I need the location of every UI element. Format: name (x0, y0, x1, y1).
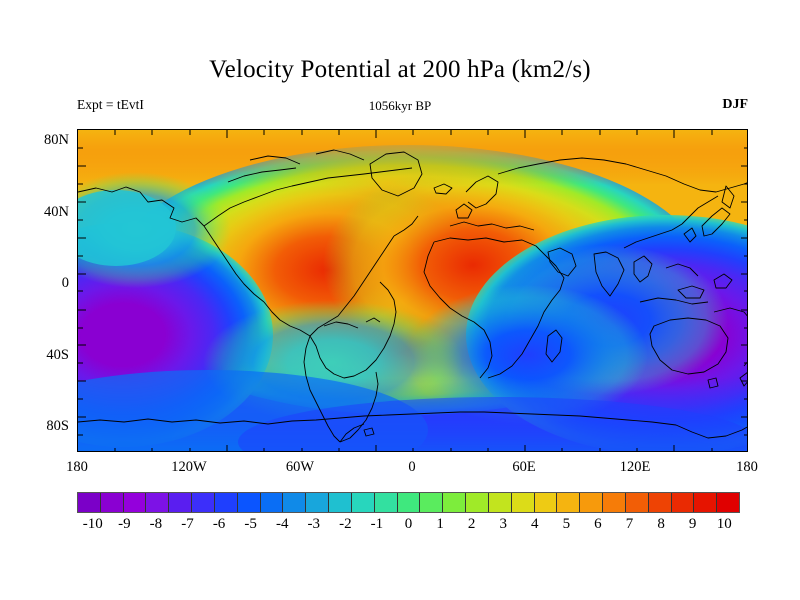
colorbar-cell-6 (215, 493, 238, 512)
colorbar-cell-8 (261, 493, 284, 512)
colorbar-cell-21 (557, 493, 580, 512)
colorbar-cell-16 (443, 493, 466, 512)
x-tick-label-60w: 60W (265, 459, 335, 476)
colorbar-cell-7 (238, 493, 261, 512)
figure-root: Velocity Potential at 200 hPa (km2/s) 10… (0, 0, 800, 600)
colorbar-cell-1 (101, 493, 124, 512)
colorbar-cell-23 (603, 493, 626, 512)
velocity-potential-field (78, 130, 748, 452)
colorbar-cell-4 (169, 493, 192, 512)
colorbar-cell-25 (649, 493, 672, 512)
colorbar-cell-22 (580, 493, 603, 512)
x-tick-label-60e: 60E (489, 459, 559, 476)
page-title: Velocity Potential at 200 hPa (km2/s) (0, 56, 800, 84)
colorbar-cell-13 (375, 493, 398, 512)
colorbar-cell-2 (124, 493, 147, 512)
x-tick-label-0: 0 (377, 459, 447, 476)
colorbar-cell-18 (489, 493, 512, 512)
colorbar-cell-9 (283, 493, 306, 512)
x-tick-label-180e: 180 (712, 459, 782, 476)
colorbar-cell-26 (672, 493, 695, 512)
colorbar-cell-0 (78, 493, 101, 512)
colorbar-cell-11 (329, 493, 352, 512)
map-plot-area (77, 129, 748, 452)
x-tick-label-180w: 180 (42, 459, 112, 476)
colorbar-label-10: 10 (704, 516, 744, 533)
y-tick-label-40s: 40S (25, 347, 69, 364)
y-tick-label-0: 0 (25, 275, 69, 292)
colorbar-cell-24 (626, 493, 649, 512)
colorbar-cell-17 (466, 493, 489, 512)
colorbar-cell-12 (352, 493, 375, 512)
colorbar-cell-5 (192, 493, 215, 512)
experiment-label: Expt = tEvtI (77, 97, 144, 113)
colorbar-cell-20 (535, 493, 558, 512)
season-label: DJF (722, 97, 748, 113)
colorbar-cell-10 (306, 493, 329, 512)
x-tick-label-120w: 120W (154, 459, 224, 476)
y-tick-label-80s: 80S (25, 418, 69, 435)
colorbar-cell-28 (717, 493, 739, 512)
colorbar-cell-19 (512, 493, 535, 512)
colorbar (77, 492, 740, 513)
y-tick-label-80n: 80N (25, 132, 69, 149)
colorbar-cell-14 (398, 493, 421, 512)
colorbar-cell-3 (146, 493, 169, 512)
colorbar-cell-27 (694, 493, 717, 512)
y-tick-label-40n: 40N (25, 204, 69, 221)
colorbar-cell-15 (420, 493, 443, 512)
x-tick-label-120e: 120E (600, 459, 670, 476)
